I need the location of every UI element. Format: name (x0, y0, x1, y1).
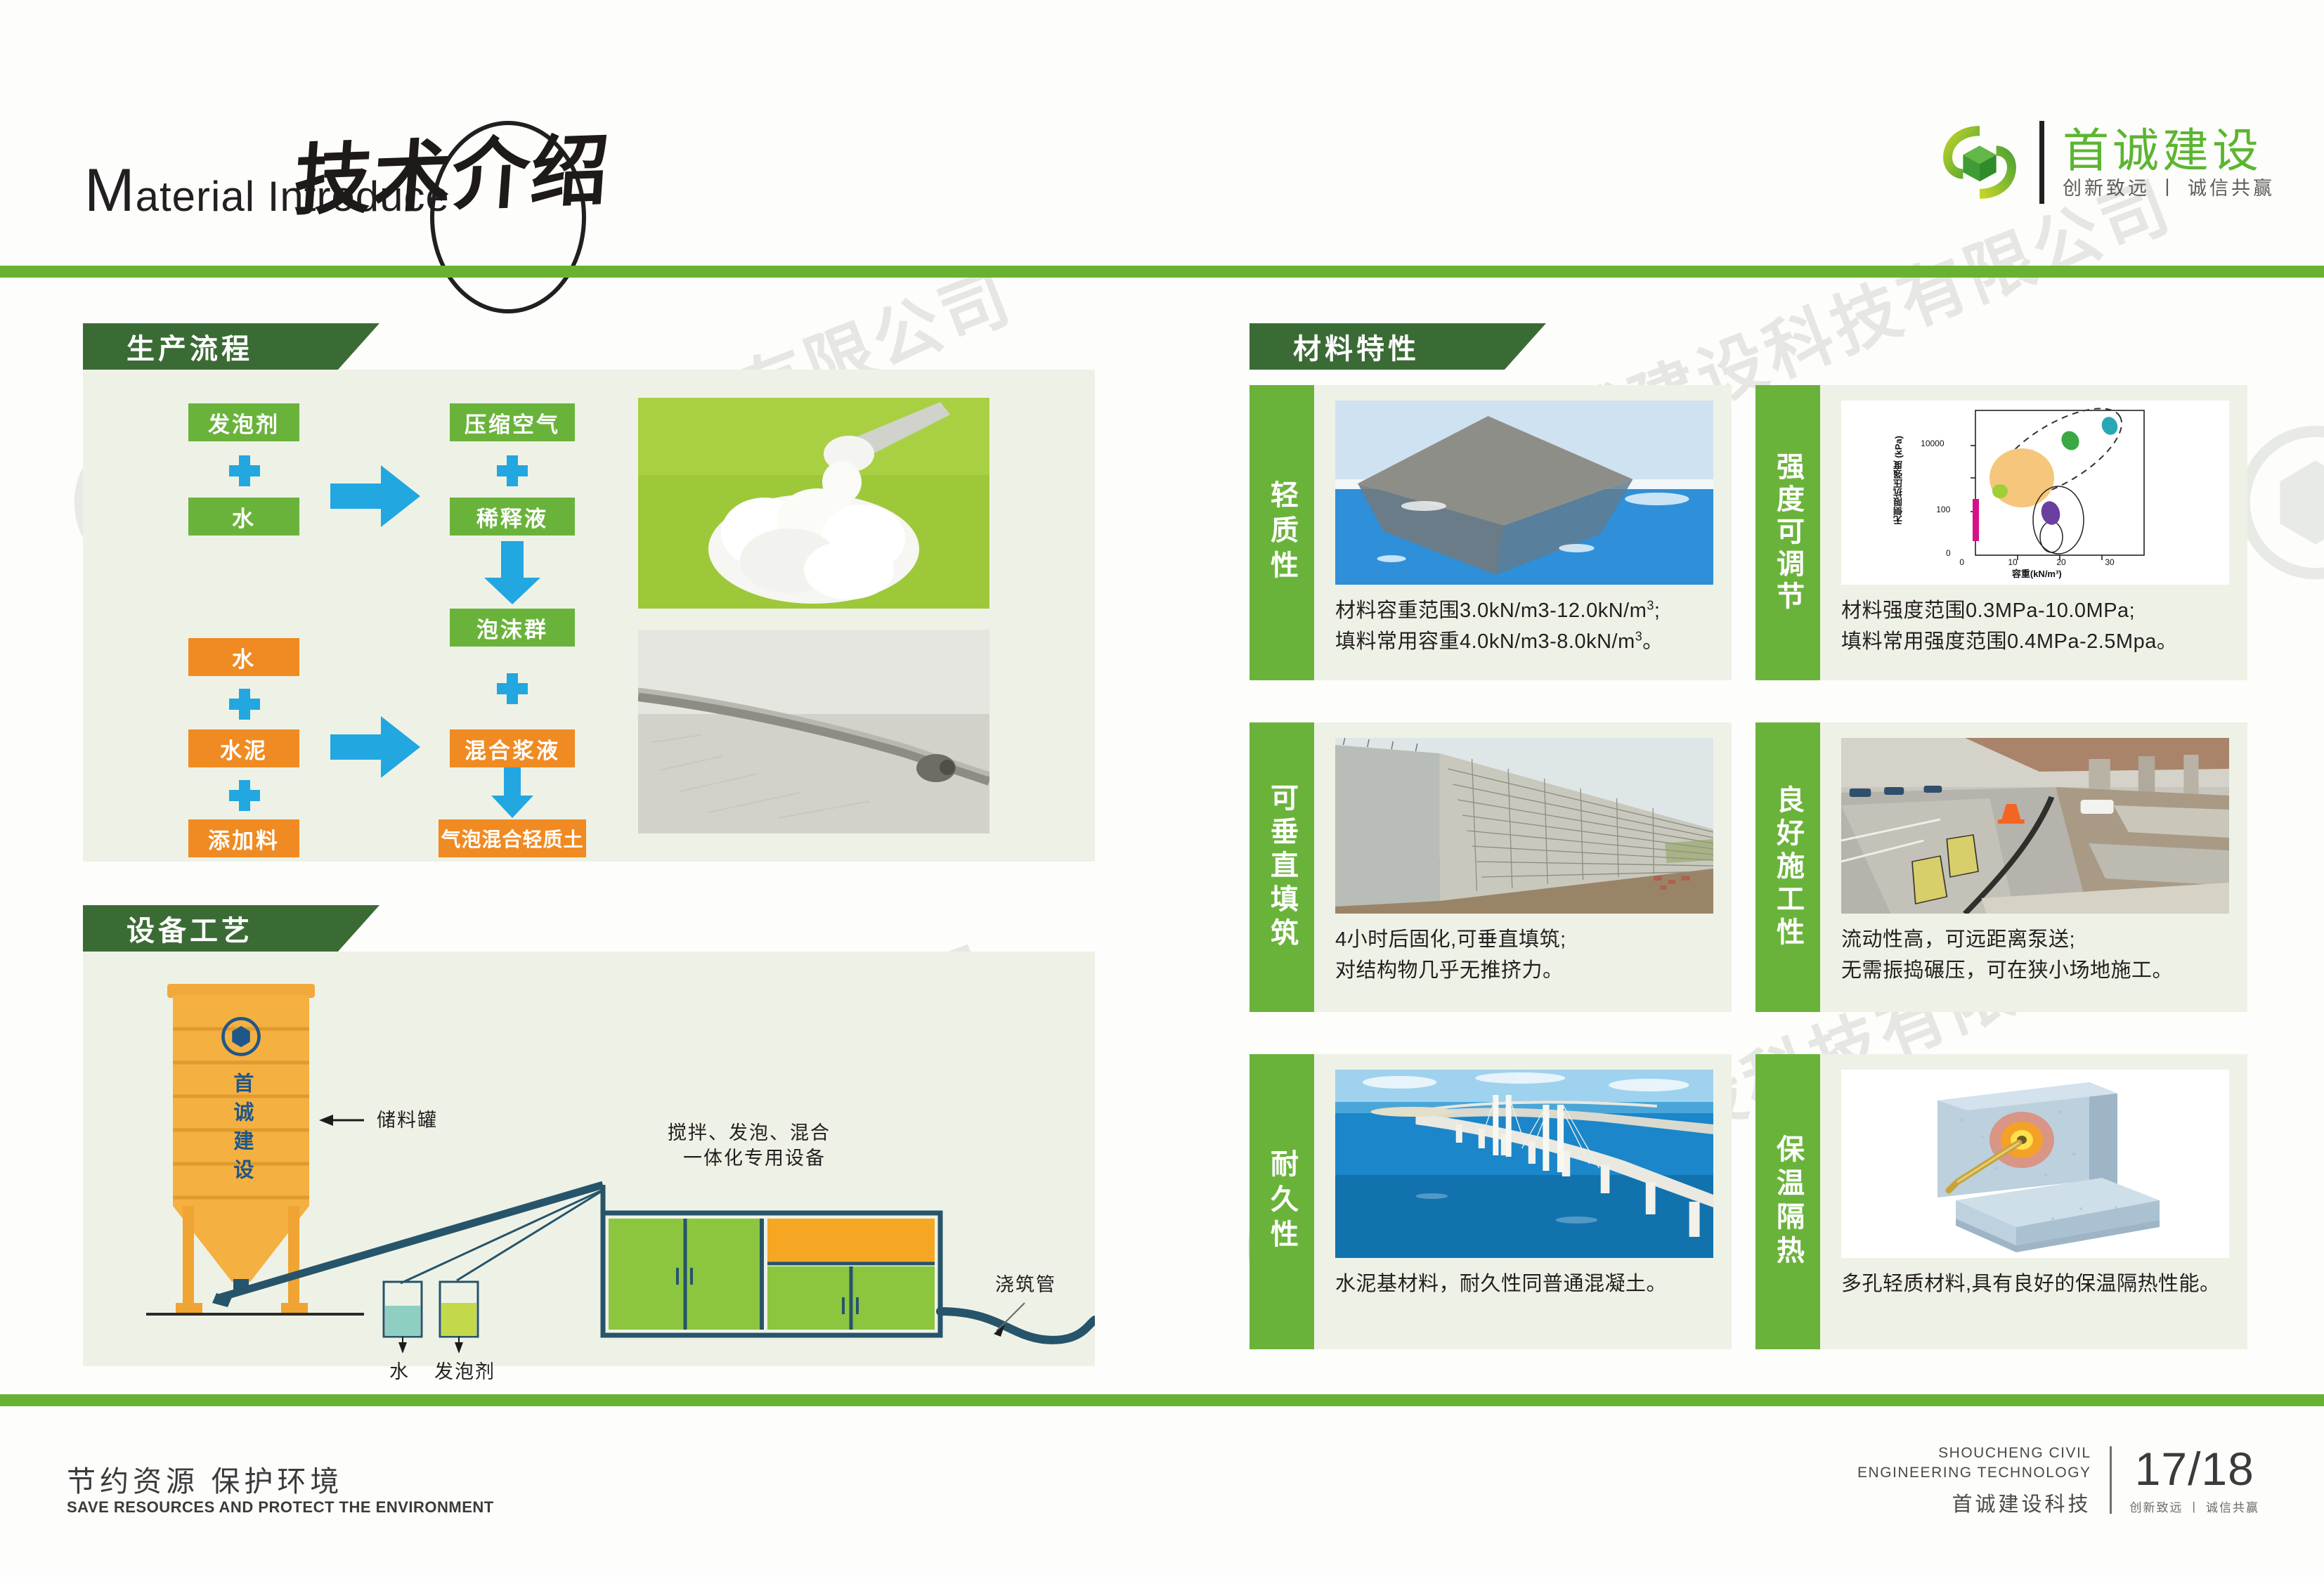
section-material-properties: 材料特性 (1249, 323, 2247, 370)
page-title-cn: 技术介绍 (291, 107, 615, 231)
plus-icon (229, 780, 260, 811)
chart-x-tick-10: 10 (2008, 557, 2017, 567)
photo-flame-test-block (1841, 1070, 2229, 1258)
feature-caption: 4小时后固化,可垂直填筑; 对结构物几乎无推挤力。 (1335, 925, 1713, 986)
flow-box-cement: 水泥 (188, 729, 299, 767)
chart-x-tick-0: 0 (1959, 557, 1964, 567)
feature-caption: 水泥基材料，耐久性同普通混凝土。 (1335, 1269, 1713, 1300)
brand-lockup: 首诚建设 创新致远 丨 诚信共赢 (1938, 121, 2275, 204)
feature-card-adjustable-strength: 强度可调节 (1755, 385, 2247, 680)
feature-tag-label: 良好施工性 (1773, 785, 1803, 950)
label-water: 水 (389, 1359, 410, 1384)
flow-box-foaming-agent: 发泡剂 (188, 403, 299, 441)
page-root: 广东首诚建设科技有限公司 广东首诚建设科技有限公司 广东首诚建设科技有限公司 广… (0, 0, 2324, 1577)
photo-sea-bridge (1335, 1070, 1713, 1258)
production-flow-body: 发泡剂 水 压缩空气 稀释液 泡沫群 水 水泥 添加料 混合浆液 气泡混合轻质土 (83, 370, 1095, 862)
silo-brand-text: 首诚建设 (221, 1072, 261, 1199)
brand-divider (2039, 121, 2044, 204)
silo-brand-label: 首诚建设 (224, 1072, 258, 1188)
flow-box-label: 添加料 (208, 823, 280, 855)
flow-box-diluent: 稀释液 (450, 498, 575, 536)
plus-icon (497, 455, 528, 486)
equipment-diagram-body: 首诚建设 储料罐 搅拌、发泡、混合 一体化专用设备 浇筑管 水 发泡剂 (83, 952, 1095, 1366)
footer-page-slogan: 创新致远 丨 诚信共赢 (2130, 1498, 2259, 1515)
flow-box-water-1: 水 (188, 498, 299, 536)
chart-y-tick-100: 100 (1936, 505, 1950, 514)
plus-icon (229, 455, 260, 486)
section-production-flow: 生产流程 发泡剂 水 压缩空气 稀释液 泡沫群 水 水泥 添加料 (83, 323, 1095, 862)
flow-box-label: 泡沫群 (476, 612, 548, 644)
section-tab-equipment: 设备工艺 (83, 905, 379, 952)
label-mixing-equipment-line2: 一体化专用设备 (683, 1146, 831, 1171)
arrow-down-icon (481, 541, 543, 606)
flow-box-label: 发泡剂 (208, 407, 280, 439)
flow-box-mixed-slurry: 混合浆液 (450, 729, 575, 767)
feature-tag: 轻质性 (1249, 385, 1314, 680)
brand-name: 首诚建设 (2063, 127, 2275, 174)
plus-icon (497, 673, 528, 704)
feature-tag-label: 可垂直填筑 (1267, 783, 1297, 952)
photo-floating-block (1335, 401, 1713, 585)
page-header: Material Introduce 技术介绍 (0, 0, 2324, 266)
chart-plot-area: 无侧限抗压强度 (kPa) 容重(kN/m³) 10000 100 0 0 10… (1841, 401, 2229, 585)
section-tab-label: 生产流程 (126, 326, 253, 367)
section-tab-label: 设备工艺 (126, 908, 253, 949)
feature-card-durability: 耐久性 (1249, 1054, 1732, 1349)
feature-tag: 耐久性 (1249, 1054, 1314, 1349)
photo-foam (638, 398, 989, 609)
arrow-down-icon (489, 767, 535, 819)
feature-caption-end: ; (1654, 599, 1661, 622)
feature-tag: 保温隔热 (1755, 1054, 1820, 1349)
footer-divider (2110, 1446, 2112, 1514)
feature-caption-sup: 3 (1635, 629, 1643, 643)
flow-box-compressed-air: 压缩空气 (450, 403, 575, 441)
feature-caption-line1: 水泥基材料，耐久性同普通混凝土。 (1335, 1269, 1713, 1300)
arrow-right-icon (330, 712, 422, 782)
footer-slogan-en: SAVE RESOURCES AND PROTECT THE ENVIRONME… (67, 1498, 494, 1517)
flow-box-foamed-lightweight-soil: 气泡混合轻质土 (439, 819, 586, 857)
strength-density-scatter-chart: 无侧限抗压强度 (kPa) 容重(kN/m³) 10000 100 0 0 10… (1841, 401, 2229, 585)
feature-tag: 强度可调节 (1755, 385, 1820, 680)
chart-y-tick-0: 0 (1946, 548, 1951, 558)
flow-diagram: 发泡剂 水 压缩空气 稀释液 泡沫群 水 水泥 添加料 混合浆液 气泡混合轻质土 (83, 370, 1095, 862)
arrow-right-icon (330, 461, 422, 531)
label-foaming-agent: 发泡剂 (434, 1359, 495, 1384)
feature-card-good-workability: 良好施工性 (1755, 722, 2247, 1012)
flow-box-label: 气泡混合轻质土 (441, 824, 583, 852)
section-tab-label: 材料特性 (1293, 326, 1420, 367)
feature-tag-label: 保温隔热 (1773, 1134, 1803, 1269)
chart-x-tick-20: 20 (2056, 557, 2065, 567)
footer-slogan-cn: 节约资源 保护环境 (67, 1458, 343, 1500)
photo-construction-site (1841, 738, 2229, 914)
flow-box-label: 稀释液 (476, 501, 548, 533)
feature-caption: 流动性高，可远距离泵送; 无需振捣碾压，可在狭小场地施工。 (1841, 925, 2229, 986)
footer-company: SHOUCHENG CIVIL ENGINEERING TECHNOLOGY 首… (1857, 1443, 2091, 1517)
flow-box-label: 水泥 (220, 733, 268, 765)
header-rule (0, 266, 2324, 278)
feature-body: 无侧限抗压强度 (kPa) 容重(kN/m³) 10000 100 0 0 10… (1820, 385, 2247, 680)
section-tab-production: 生产流程 (83, 323, 379, 370)
flow-box-foam-group: 泡沫群 (450, 609, 575, 647)
chart-y-axis-label: 无侧限抗压强度 (kPa) (1892, 436, 1905, 524)
equipment-diagram: 首诚建设 储料罐 搅拌、发泡、混合 一体化专用设备 浇筑管 水 发泡剂 (83, 952, 1095, 1366)
feature-caption-line2: 对结构物几乎无推挤力。 (1335, 956, 1713, 987)
flow-box-label: 水 (232, 642, 256, 673)
watermark-logo-icon (2235, 422, 2324, 583)
label-storage-tank: 储料罐 (377, 1108, 438, 1133)
page-title-initial: M (84, 157, 136, 224)
feature-caption: 多孔轻质材料,具有良好的保温隔热性能。 (1841, 1269, 2229, 1300)
photo-retaining-wall (1335, 738, 1713, 914)
feature-body: 材料容重范围3.0kN/m3-12.0kN/m3; 填料常用容重4.0kN/m3… (1314, 385, 1732, 680)
footer-company-en-line2: ENGINEERING TECHNOLOGY (1857, 1463, 2091, 1483)
brand-slogan: 创新致远 丨 诚信共赢 (2063, 179, 2275, 198)
feature-tag-label: 轻质性 (1267, 480, 1297, 585)
feature-tag: 良好施工性 (1755, 722, 1820, 1012)
feature-caption: 材料容重范围3.0kN/m3-12.0kN/m3; 填料常用容重4.0kN/m3… (1335, 596, 1713, 657)
feature-caption-end: 。 (1642, 630, 1663, 653)
feature-caption-sup: 3 (1647, 598, 1654, 612)
page-footer: 节约资源 保护环境 SAVE RESOURCES AND PROTECT THE… (0, 1394, 2324, 1577)
feature-card-vertical-filling: 可垂直填筑 (1249, 722, 1732, 1012)
feature-body: 多孔轻质材料,具有良好的保温隔热性能。 (1820, 1054, 2247, 1349)
flow-box-label: 水 (232, 501, 256, 533)
label-mixing-equipment: 搅拌、发泡、混合 一体化专用设备 (668, 1120, 831, 1172)
feature-tag-label: 耐久性 (1267, 1149, 1297, 1254)
footer-page-block: 17/18 创新致远 丨 诚信共赢 (2130, 1446, 2259, 1515)
feature-caption-line1: 多孔轻质材料,具有良好的保温隔热性能。 (1841, 1269, 2229, 1300)
feature-caption: 材料强度范围0.3MPa-10.0MPa; 填料常用强度范围0.4MPa-2.5… (1841, 596, 2229, 657)
feature-card-thermal-insulation: 保温隔热 (1755, 1054, 2247, 1349)
flow-box-water-2: 水 (188, 638, 299, 676)
feature-caption-line2: 填料常用容重4.0kN/m3-8.0kN/m (1335, 630, 1635, 653)
feature-body: 流动性高，可远距离泵送; 无需振捣碾压，可在狭小场地施工。 (1820, 722, 2247, 1012)
feature-tag-label: 强度可调节 (1773, 452, 1803, 614)
chart-y-tick-10000: 10000 (1921, 439, 1944, 448)
feature-body: 4小时后固化,可垂直填筑; 对结构物几乎无推挤力。 (1314, 722, 1732, 1012)
label-mixing-equipment-line1: 搅拌、发泡、混合 (668, 1120, 831, 1146)
feature-caption-line1: 流动性高，可远距离泵送; (1841, 925, 2229, 956)
label-pour-pipe: 浇筑管 (995, 1272, 1056, 1297)
brand-names: 首诚建设 创新致远 丨 诚信共赢 (2063, 127, 2275, 198)
feature-caption-line1: 材料强度范围0.3MPa-10.0MPa; (1841, 596, 2229, 627)
feature-body: 水泥基材料，耐久性同普通混凝土。 (1314, 1054, 1732, 1349)
footer-company-cn: 首诚建设科技 (1857, 1488, 2091, 1517)
footer-company-en-line1: SHOUCHENG CIVIL (1857, 1443, 2091, 1463)
page-number: 17/18 (2130, 1446, 2259, 1492)
flow-box-label: 混合浆液 (465, 733, 560, 765)
feature-tag: 可垂直填筑 (1249, 722, 1314, 1012)
shoucheng-logo-icon (221, 1016, 261, 1057)
footer-brand-block: SHOUCHENG CIVIL ENGINEERING TECHNOLOGY 首… (1857, 1443, 2259, 1517)
section-equipment-process: 设备工艺 (83, 905, 1095, 1366)
chart-x-tick-30: 30 (2105, 557, 2114, 567)
feature-caption-line2: 填料常用强度范围0.4MPa-2.5Mpa。 (1841, 627, 2229, 658)
flow-box-additive: 添加料 (188, 819, 299, 857)
flow-box-label: 压缩空气 (465, 407, 560, 439)
feature-card-lightweight: 轻质性 (1249, 385, 1732, 680)
feature-caption-line1: 材料容重范围3.0kN/m3-12.0kN/m (1335, 599, 1647, 622)
feature-caption-line1: 4小时后固化,可垂直填筑; (1335, 925, 1713, 956)
photo-pouring (638, 630, 989, 833)
chart-x-axis-label: 容重(kN/m³) (2012, 566, 2062, 580)
feature-caption-line2: 无需振捣碾压，可在狭小场地施工。 (1841, 956, 2229, 987)
hexagon-cube-logo-icon (1938, 121, 2021, 204)
plus-icon (229, 689, 260, 720)
section-tab-material: 材料特性 (1249, 323, 1546, 370)
